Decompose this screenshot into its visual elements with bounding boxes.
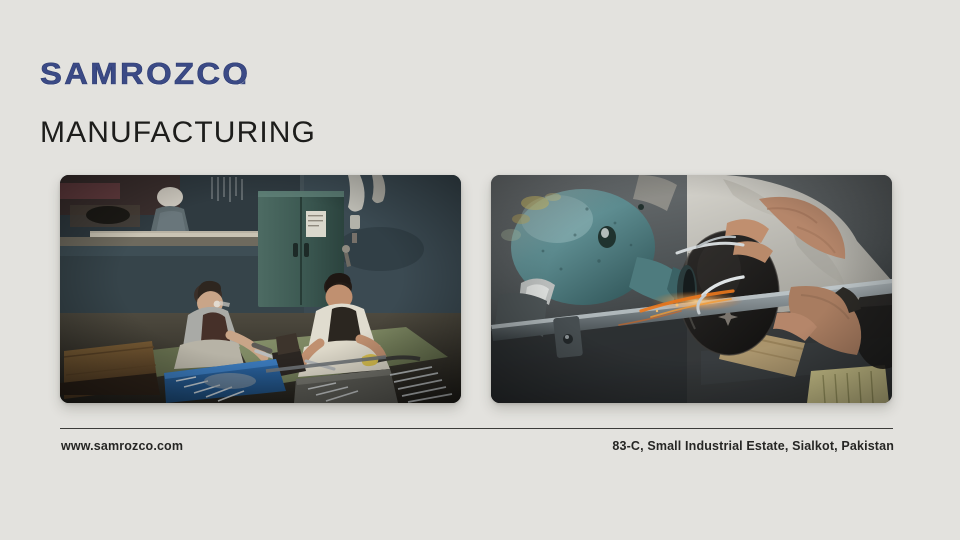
footer-website[interactable]: www.samrozco.com — [61, 439, 183, 454]
bench-grinder-finishing-image — [491, 175, 892, 403]
photo-card-bench-grinder-finishing — [491, 175, 892, 403]
slide-canvas: SAMROZCO. MANUFACTURING — [0, 0, 960, 540]
brand-logo-text: SAMROZCO — [40, 58, 250, 89]
footer-divider — [60, 428, 893, 429]
footer-address: 83-C, Small Industrial Estate, Sialkot, … — [612, 439, 894, 454]
brand-logo: SAMROZCO. — [40, 58, 249, 89]
photo-row — [60, 175, 893, 403]
photo-card-workshop-floor-craftsmen — [60, 175, 461, 403]
page-title: MANUFACTURING — [40, 115, 316, 151]
workshop-floor-craftsmen-image — [60, 175, 461, 403]
